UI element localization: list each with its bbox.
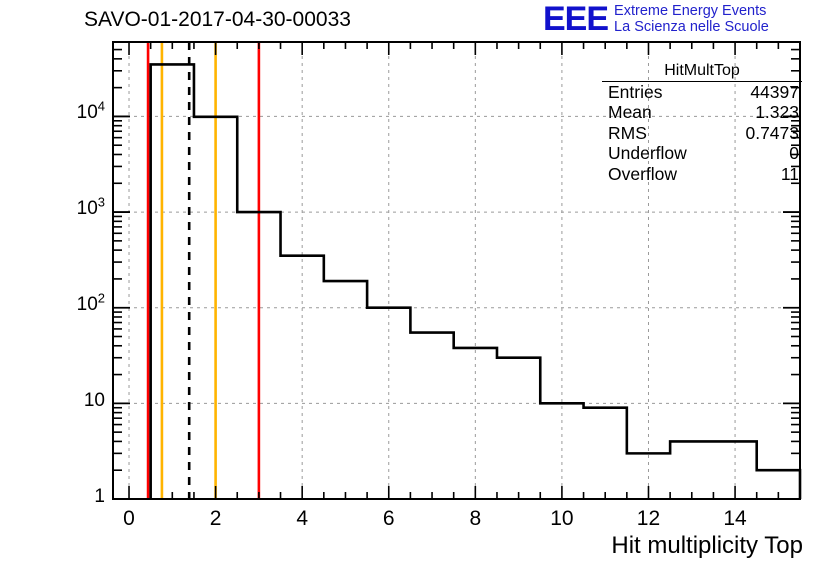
x-tick-label: 12	[618, 507, 678, 531]
threshold-markers	[148, 42, 259, 499]
y-tick-label: 1	[20, 486, 105, 508]
stats-row: Underflow0	[602, 143, 802, 163]
y-tick-label: 102	[20, 294, 105, 316]
x-tick-label: 10	[532, 507, 592, 531]
stats-row: Entries44397	[602, 82, 802, 102]
stats-row-value: 11	[781, 164, 799, 184]
eee-logo-line2: La Scienza nelle Scuole	[614, 19, 769, 35]
stats-row: Overflow11	[602, 164, 802, 184]
x-tick-label: 14	[705, 507, 765, 531]
stats-row-key: Mean	[608, 102, 652, 122]
stats-row-value: 1.323	[755, 102, 799, 122]
y-tick-label: 104	[20, 102, 105, 124]
stats-row-key: RMS	[608, 123, 647, 143]
stats-row-key: Entries	[608, 82, 662, 102]
x-tick-label: 8	[445, 507, 505, 531]
y-tick-label: 103	[20, 198, 105, 220]
x-tick-label: 2	[186, 507, 246, 531]
stats-box: HitMultTop Entries44397Mean1.323RMS0.747…	[602, 62, 802, 184]
stats-box-title: HitMultTop	[602, 62, 802, 82]
stats-rows: Entries44397Mean1.323RMS0.7473Underflow0…	[602, 82, 802, 184]
stats-row-value: 0	[789, 143, 799, 163]
stats-row-value: 44397	[750, 82, 799, 102]
stats-row: RMS0.7473	[602, 123, 802, 143]
eee-logo-line1: Extreme Energy Events	[614, 3, 769, 19]
x-axis-title: Hit multiplicity Top	[611, 532, 803, 560]
stats-row: Mean1.323	[602, 102, 802, 122]
stats-row-key: Underflow	[608, 143, 687, 163]
x-tick-label: 4	[272, 507, 332, 531]
stats-row-key: Overflow	[608, 164, 677, 184]
y-tick-label: 10	[20, 390, 105, 412]
x-tick-label: 6	[359, 507, 419, 531]
eee-logo-mark: EEE	[543, 2, 608, 36]
eee-logo: EEE Extreme Energy Events La Scienza nel…	[543, 2, 769, 36]
page-title: SAVO-01-2017-04-30-00033	[84, 8, 351, 32]
x-tick-label: 0	[99, 507, 159, 531]
stats-row-value: 0.7473	[745, 123, 799, 143]
